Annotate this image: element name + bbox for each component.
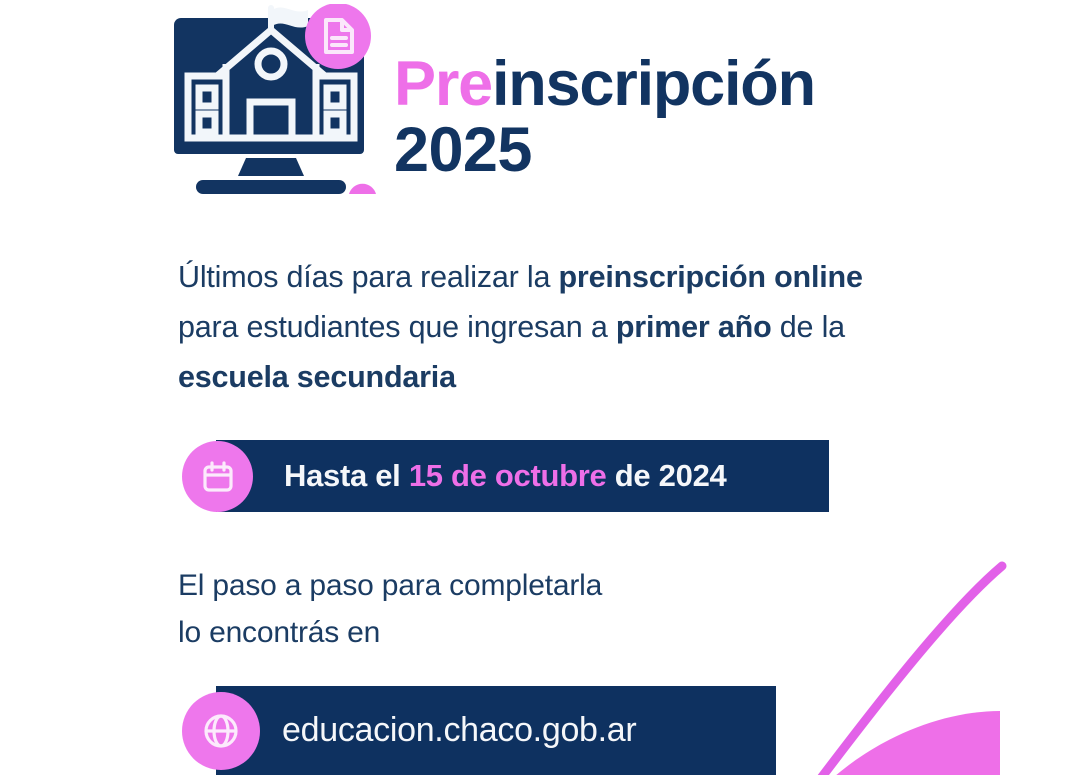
website-banner[interactable]: educacion.chaco.gob.ar: [216, 686, 776, 775]
preinscripcion-logo: [168, 4, 376, 200]
deadline-text: Hasta el 15 de octubre de 2024: [216, 458, 726, 494]
instructions-text: El paso a paso para completarla lo encon…: [178, 562, 798, 656]
calendar-icon: [182, 441, 253, 512]
pink-curve-blob-decoration: [820, 711, 1000, 775]
document-badge-icon: [305, 4, 371, 69]
lead-bold-preinscripcion-online: preinscripción online: [558, 260, 862, 294]
pink-diagonal-line-decoration: [812, 566, 1002, 775]
deadline-banner: Hasta el 15 de octubre de 2024: [216, 440, 829, 512]
lead-part-3: de la: [772, 310, 845, 344]
preinscripcion-poster: Preinscripción 2025 Últimos días para re…: [0, 0, 1088, 775]
website-url-text[interactable]: educacion.chaco.gob.ar: [216, 711, 636, 750]
pink-dot-decoration: [349, 184, 376, 194]
lead-bold-primer-ano: primer año: [616, 310, 772, 344]
title-rest-inscripcion: inscripción: [492, 49, 815, 119]
poster-header: Preinscripción 2025: [168, 4, 815, 200]
lead-bold-escuela-secundaria: escuela secundaria: [178, 360, 456, 394]
instructions-line-2: lo encontrás en: [178, 609, 798, 656]
deadline-suffix: de 2024: [606, 458, 726, 493]
title-accent-pre: Pre: [394, 49, 492, 119]
deadline-date-highlight: 15 de octubre: [409, 458, 607, 493]
instructions-line-1: El paso a paso para completarla: [178, 562, 798, 609]
deadline-prefix: Hasta el: [284, 458, 409, 493]
lead-paragraph: Últimos días para realizar la preinscrip…: [178, 252, 878, 402]
title-line-2-year: 2025: [394, 118, 815, 182]
poster-title: Preinscripción 2025: [394, 4, 815, 183]
lead-part-2: para estudiantes que ingresan a: [178, 310, 616, 344]
lead-part-1: Últimos días para realizar la: [178, 260, 558, 294]
title-line-1: Preinscripción: [394, 52, 815, 116]
globe-icon: [182, 692, 260, 770]
